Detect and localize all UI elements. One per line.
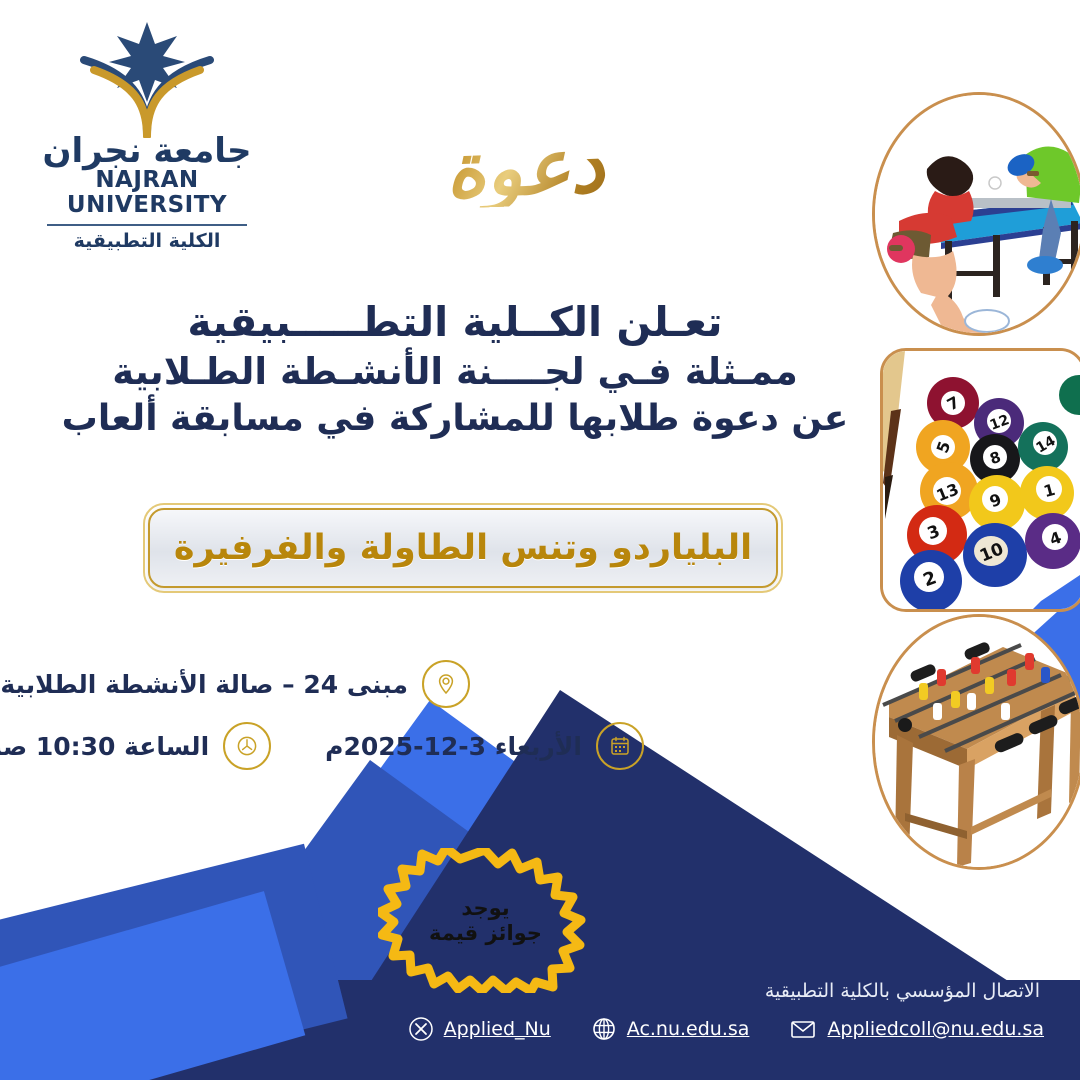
footer-title: الاتصال المؤسسي بالكلية التطبيقية — [765, 980, 1040, 1002]
location-pin-icon — [422, 660, 470, 708]
venue-row: مبنى 24 – صالة الأنشطة الطلابية — [150, 660, 680, 708]
footer-contact-links: Applied_Nu Ac.nu.edu.sa — [408, 1016, 1044, 1042]
foosball-photo — [872, 614, 1080, 870]
footer-link-email[interactable]: Appliedcoll@nu.edu.sa — [789, 1016, 1044, 1042]
logo-english-name: NAJRAN UNIVERSITY — [22, 168, 272, 219]
najran-university-emblem-icon — [22, 18, 272, 138]
logo-divider — [47, 224, 247, 226]
clock-icon — [223, 722, 271, 770]
invitation-poster: جامعة نجران NAJRAN UNIVERSITY الكلية الت… — [0, 0, 1080, 1080]
foosball-table-illustration-icon — [875, 617, 1080, 867]
globe-icon — [591, 1016, 617, 1042]
university-logo: جامعة نجران NAJRAN UNIVERSITY الكلية الت… — [22, 18, 272, 228]
x-twitter-icon — [408, 1016, 434, 1042]
time-text: الساعة 10:30 صباحا — [0, 732, 209, 761]
footer-link-x-label: Applied_Nu — [444, 1018, 551, 1040]
email-icon — [789, 1016, 817, 1042]
event-details: مبنى 24 – صالة الأنشطة الطلابية الأربعاء… — [150, 660, 680, 784]
datetime-row: الأربعاء 3-12-2025م الساعة 10:30 صباحا — [150, 722, 680, 770]
announcement-text: تعـلن الكــلية التطـــــبيقية ممـثلة فـي… — [60, 296, 850, 442]
prize-line-2: جوائز قيمة — [429, 921, 542, 946]
announcement-line-2: ممـثلة فـي لجــــنة الأنشـطة الطـلابية — [60, 348, 850, 395]
footer: الاتصال المؤسسي بالكلية التطبيقية Applie… — [0, 972, 1080, 1080]
games-list-text: البلياردو وتنس الطاولة والفرفيرة — [174, 528, 752, 568]
logo-college-name: الكلية التطبيقية — [22, 230, 272, 252]
billiards-photo: 7 5 12 8 14 13 9 1 3 4 10 — [880, 348, 1080, 612]
games-highlight-box: البلياردو وتنس الطاولة والفرفيرة — [148, 508, 778, 588]
logo-arabic-name: جامعة نجران — [22, 134, 272, 168]
footer-link-website-label: Ac.nu.edu.sa — [627, 1018, 750, 1040]
footer-link-email-label: Appliedcoll@nu.edu.sa — [827, 1018, 1044, 1040]
date-text: الأربعاء 3-12-2025م — [325, 732, 582, 761]
announcement-line-3: عن دعوة طلابها للمشاركة في مسابقة ألعاب — [60, 396, 850, 442]
billiards-illustration-icon: 7 5 12 8 14 13 9 1 3 4 10 — [883, 351, 1080, 609]
venue-text: مبنى 24 – صالة الأنشطة الطلابية — [0, 670, 408, 699]
prize-line-1: يوجد — [461, 896, 509, 921]
announcement-line-1: تعـلن الكــلية التطـــــبيقية — [60, 296, 850, 348]
footer-link-x[interactable]: Applied_Nu — [408, 1016, 551, 1042]
calendar-icon — [596, 722, 644, 770]
page-title-calligraphy: دعوة — [394, 125, 656, 210]
table-tennis-illustration-icon — [875, 95, 1080, 333]
footer-link-website[interactable]: Ac.nu.edu.sa — [591, 1016, 750, 1042]
table-tennis-photo — [872, 92, 1080, 336]
